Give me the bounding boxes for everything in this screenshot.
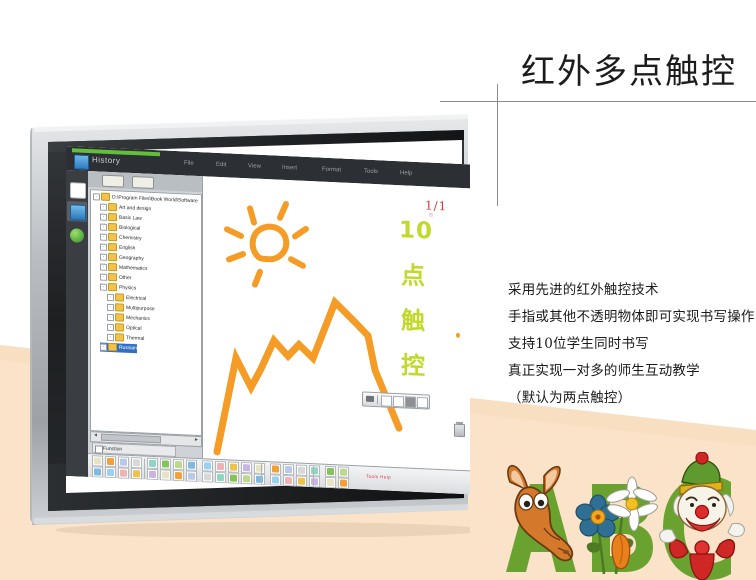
tree-node-label: Chemistry bbox=[119, 235, 142, 242]
icon-glyph bbox=[298, 467, 305, 474]
tree-node[interactable]: -Russian bbox=[100, 343, 137, 354]
link-icon[interactable] bbox=[254, 463, 265, 475]
icon-glyph bbox=[94, 457, 101, 464]
forward-button[interactable] bbox=[132, 176, 154, 189]
open-icon[interactable] bbox=[105, 456, 116, 468]
resize-icon[interactable] bbox=[338, 466, 349, 478]
brush-icon[interactable] bbox=[228, 461, 239, 473]
toolbar-group-separator bbox=[92, 456, 93, 476]
icon-glyph bbox=[272, 476, 279, 483]
export-icon[interactable] bbox=[147, 458, 158, 470]
select-icon[interactable] bbox=[131, 457, 142, 469]
expand-toggle-icon[interactable]: - bbox=[100, 343, 107, 350]
icon-glyph bbox=[120, 469, 127, 476]
save-icon[interactable] bbox=[92, 466, 103, 478]
icon-glyph bbox=[285, 477, 292, 484]
ink-dot bbox=[456, 333, 460, 338]
scroll-right-arrow[interactable]: ► bbox=[194, 438, 199, 443]
tree-node-label: English bbox=[119, 245, 135, 252]
handwriting-char-2: 触 bbox=[401, 300, 425, 336]
folder-icon bbox=[115, 303, 124, 311]
tree-node[interactable]: -Thermal bbox=[107, 333, 144, 344]
whiteboard-software: History File Edit View Insert Format Too… bbox=[66, 146, 470, 494]
tree-node-label: Basic Law bbox=[119, 215, 142, 222]
text-box-icon[interactable] bbox=[283, 464, 294, 476]
menu-format[interactable]: Format bbox=[322, 167, 341, 174]
tree-node[interactable]: -Chemistry bbox=[100, 233, 142, 244]
tree-node-label: Multipurpose bbox=[126, 305, 155, 312]
view-lines-icon[interactable] bbox=[417, 397, 428, 409]
delete-icon[interactable] bbox=[160, 458, 171, 470]
tree-node[interactable]: -Electrical bbox=[107, 293, 146, 304]
chart-icon[interactable] bbox=[325, 466, 336, 478]
grid-icon[interactable] bbox=[131, 468, 142, 480]
toolbar-group-separator bbox=[261, 464, 262, 484]
icon-glyph bbox=[327, 479, 334, 486]
menu-view[interactable]: View bbox=[248, 163, 261, 170]
folder-icon bbox=[115, 293, 124, 301]
back-button[interactable] bbox=[102, 175, 124, 188]
undo-icon[interactable] bbox=[118, 456, 129, 468]
toolbar-separator bbox=[377, 395, 378, 404]
icon-glyph bbox=[94, 468, 101, 475]
icon-glyph bbox=[120, 458, 127, 465]
expand-toggle-icon[interactable]: - bbox=[107, 313, 114, 320]
page-title: 红外多点触控 bbox=[521, 44, 737, 93]
page-indicator: 1/1 bbox=[425, 198, 447, 213]
icon-glyph bbox=[175, 461, 182, 468]
handwriting-number: 10 bbox=[399, 217, 433, 245]
folder-icon bbox=[101, 193, 110, 201]
menu-insert[interactable]: Insert bbox=[282, 165, 297, 172]
tree-node[interactable]: -Physics bbox=[100, 283, 136, 294]
app-icon bbox=[74, 154, 89, 170]
expand-toggle-icon[interactable]: - bbox=[107, 303, 114, 310]
tree-node-label: Thermal bbox=[126, 335, 144, 342]
expand-toggle-icon[interactable]: - bbox=[107, 293, 114, 300]
pencil-icon[interactable] bbox=[283, 475, 294, 487]
icon-glyph bbox=[162, 460, 169, 467]
divider-vertical bbox=[497, 84, 498, 206]
icon-glyph bbox=[162, 471, 169, 478]
tree-node-label: Biological bbox=[119, 225, 140, 232]
folder-icon bbox=[108, 203, 117, 211]
expand-toggle-icon[interactable]: - bbox=[100, 243, 107, 250]
folder-icon bbox=[115, 323, 124, 331]
menu-file[interactable]: File bbox=[184, 160, 194, 166]
shape-icon[interactable] bbox=[215, 461, 226, 473]
marker-icon[interactable] bbox=[296, 475, 307, 487]
page-icon[interactable] bbox=[70, 182, 86, 199]
left-dock bbox=[66, 170, 88, 477]
table-icon[interactable] bbox=[241, 473, 252, 485]
redo-icon[interactable] bbox=[118, 467, 129, 479]
icon-glyph bbox=[285, 466, 292, 473]
icon-glyph bbox=[133, 470, 140, 477]
icon-glyph bbox=[243, 475, 250, 482]
arrow-down-icon[interactable] bbox=[270, 463, 281, 475]
icon-glyph bbox=[107, 458, 114, 465]
expand-toggle-icon[interactable]: - bbox=[100, 213, 107, 220]
folder-icon bbox=[108, 283, 117, 291]
scroll-left-arrow[interactable]: ◄ bbox=[93, 433, 98, 438]
view-object-icon[interactable] bbox=[405, 396, 416, 408]
folder-icon bbox=[108, 343, 117, 351]
icon-glyph bbox=[188, 462, 195, 469]
expand-toggle-icon[interactable]: - bbox=[100, 273, 107, 280]
icon-glyph bbox=[340, 468, 347, 475]
expand-toggle-icon[interactable]: - bbox=[100, 263, 107, 270]
folder-icon bbox=[115, 333, 124, 341]
tree-node-label: Art and design bbox=[119, 205, 151, 212]
expand-toggle-icon[interactable]: - bbox=[100, 283, 107, 290]
handwriting-char-3: 控 bbox=[401, 345, 425, 381]
icon-glyph bbox=[298, 478, 305, 485]
abc-mascot bbox=[486, 452, 756, 580]
menu-help[interactable]: Help bbox=[400, 170, 412, 177]
new-icon[interactable] bbox=[92, 455, 103, 467]
folder-icon bbox=[108, 213, 117, 221]
expand-toggle-icon[interactable]: - bbox=[107, 333, 114, 340]
tree-node-label: Electrical bbox=[126, 295, 146, 302]
app-title: History bbox=[92, 155, 120, 165]
pen-highlight-icon[interactable] bbox=[270, 474, 281, 486]
menu-tools[interactable]: Tools bbox=[364, 169, 378, 176]
copy-icon[interactable] bbox=[105, 467, 116, 479]
expand-toggle-icon[interactable]: - bbox=[100, 233, 107, 240]
poster-root: 红外多点触控 采用先进的红外触控技术 手指或其他不透明物体即可实现书写操作 支持… bbox=[0, 0, 756, 580]
image-icon[interactable] bbox=[215, 472, 226, 484]
compass-icon[interactable] bbox=[325, 477, 336, 489]
folder-icon bbox=[115, 313, 124, 321]
icon-glyph bbox=[204, 462, 211, 469]
tree-node[interactable]: -Basic Law bbox=[100, 213, 142, 224]
library-icon[interactable] bbox=[70, 204, 86, 221]
expand-toggle-icon[interactable]: - bbox=[100, 253, 107, 260]
folder-icon bbox=[108, 223, 117, 231]
folder-icon bbox=[108, 243, 117, 251]
icon-glyph bbox=[230, 474, 237, 481]
icon-glyph bbox=[149, 471, 156, 478]
feature-line-1: 采用先进的红外触控技术 bbox=[508, 283, 756, 298]
scrollbar-thumb[interactable] bbox=[101, 434, 161, 444]
tree-node-label: Russian bbox=[119, 345, 137, 352]
letter-a-icon[interactable] bbox=[309, 465, 320, 477]
expand-toggle-icon[interactable]: - bbox=[100, 223, 107, 230]
icon-glyph bbox=[188, 473, 195, 480]
feature-line-2: 手指或其他不透明物体即可实现书写操作 bbox=[508, 310, 756, 325]
toolbar-group-separator bbox=[144, 459, 145, 479]
icon-glyph bbox=[217, 474, 224, 481]
trash-icon[interactable] bbox=[454, 424, 465, 438]
icon-glyph bbox=[327, 468, 334, 475]
feature-list: 采用先进的红外触控技术 手指或其他不透明物体即可实现书写操作 支持10位学生同时… bbox=[508, 283, 756, 418]
tree-node-label: Physics bbox=[119, 285, 136, 292]
tree-node[interactable]: -English bbox=[100, 243, 135, 254]
next-icon[interactable] bbox=[160, 469, 171, 481]
clip-icon[interactable] bbox=[296, 464, 307, 476]
toolbar-group-separator bbox=[196, 461, 197, 481]
handwriting-char-1: 点 bbox=[401, 255, 425, 291]
tree-node-label: Geography bbox=[119, 255, 144, 262]
prev-icon[interactable] bbox=[147, 469, 158, 481]
tree-node[interactable]: -Optical bbox=[107, 323, 142, 334]
hand-icon[interactable] bbox=[173, 470, 184, 482]
globe-icon[interactable] bbox=[70, 228, 84, 243]
icon-glyph bbox=[230, 463, 237, 470]
line-icon[interactable] bbox=[202, 460, 213, 472]
divider-horizontal bbox=[440, 101, 756, 102]
menu-edit[interactable]: Edit bbox=[216, 162, 226, 168]
tree-node-label: Mechanics bbox=[126, 315, 150, 322]
icon-glyph bbox=[133, 459, 140, 466]
icon-glyph bbox=[217, 463, 224, 470]
folder-icon bbox=[108, 273, 117, 281]
interactive-whiteboard: History File Edit View Insert Format Too… bbox=[20, 112, 470, 537]
tree-node-label: Mathematics bbox=[119, 265, 147, 272]
expand-toggle-icon[interactable]: - bbox=[107, 323, 114, 330]
tree-node-label: Other bbox=[119, 275, 132, 282]
feature-line-5: （默认为两点触控） bbox=[508, 391, 756, 406]
globe2-icon[interactable] bbox=[254, 474, 265, 486]
folder-icon bbox=[108, 263, 117, 271]
icon-glyph bbox=[175, 472, 182, 479]
icon-glyph bbox=[204, 473, 211, 480]
resource-explorer: -D:\Program Files\Book World\Software-Ar… bbox=[88, 171, 203, 458]
floating-view-toolbar[interactable] bbox=[362, 391, 430, 409]
status-text: Tools Help bbox=[366, 474, 391, 480]
screen-area: History File Edit View Insert Format Too… bbox=[66, 146, 470, 494]
folder-icon bbox=[108, 233, 117, 241]
icon-glyph bbox=[340, 479, 347, 486]
text-tool-icon[interactable] bbox=[309, 476, 320, 488]
eraser-icon[interactable] bbox=[241, 462, 252, 474]
screen-icon[interactable] bbox=[228, 472, 239, 484]
icon-glyph bbox=[149, 460, 156, 467]
tree-node-label: Optical bbox=[126, 325, 142, 332]
expand-toggle-icon[interactable]: - bbox=[100, 203, 107, 210]
icon-glyph bbox=[243, 464, 250, 471]
view-single-icon[interactable] bbox=[381, 395, 392, 407]
folder-icon bbox=[108, 253, 117, 261]
tree-node[interactable]: -Other bbox=[100, 273, 132, 283]
spot-icon[interactable] bbox=[338, 477, 349, 489]
view-list-icon[interactable] bbox=[393, 396, 404, 408]
drawing-canvas[interactable]: 1/1 页 10 点 触 控 bbox=[203, 176, 470, 470]
icon-glyph bbox=[107, 469, 114, 476]
search-icon[interactable] bbox=[202, 471, 213, 483]
tree-node[interactable]: -Biological bbox=[100, 223, 140, 234]
expand-toggle-icon[interactable]: - bbox=[93, 193, 100, 200]
icon-glyph bbox=[272, 465, 279, 472]
feature-line-3: 支持10位学生同时书写 bbox=[508, 337, 756, 352]
feature-line-4: 真正实现一对多的师生互动教学 bbox=[508, 364, 756, 379]
folder-tree[interactable]: -D:\Program Files\Book World\Software-Ar… bbox=[90, 189, 202, 436]
toolbar-group-separator bbox=[313, 466, 314, 486]
capture-icon[interactable] bbox=[366, 396, 374, 402]
zoom-in-icon[interactable] bbox=[173, 459, 184, 471]
